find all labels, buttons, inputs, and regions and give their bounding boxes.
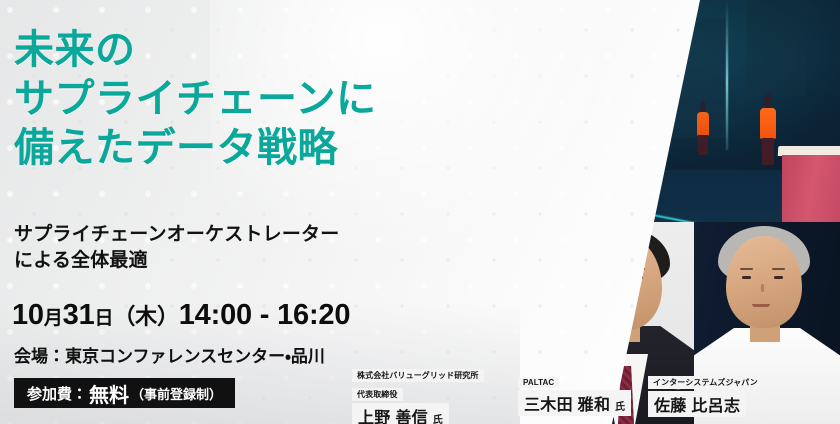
seminar-banner: 未来の サプライチェーンに 備えたデータ戦略 サプライチェーンオーケストレーター… xyxy=(0,0,840,424)
speaker-plate-3: インターシステムズジャパン 佐藤 比呂志 xyxy=(648,372,763,419)
speaker-name: 佐藤 比呂志 xyxy=(648,391,746,417)
speaker-plate-2: PALTAC 三木田 雅和 氏 xyxy=(518,372,631,418)
speaker-name-plates: 株式会社バリューグリッド研究所 代表取締役 上野 善信 氏 PALTAC 三木田… xyxy=(0,0,840,424)
speaker-role: 代表取締役 xyxy=(352,388,403,401)
speaker-name: 三木田 雅和 氏 xyxy=(518,390,631,416)
speaker-name-text: 上野 善信 xyxy=(358,410,428,424)
speaker-org: 株式会社バリューグリッド研究所 xyxy=(352,369,484,382)
speaker-name: 上野 善信 氏 xyxy=(352,403,449,424)
speaker-org: インターシステムズジャパン xyxy=(648,376,763,389)
speaker-org: PALTAC xyxy=(518,377,559,388)
speaker-plate-1: 株式会社バリューグリッド研究所 代表取締役 上野 善信 氏 xyxy=(352,365,484,424)
speaker-name-text: 佐藤 比呂志 xyxy=(654,398,740,415)
speaker-name-suffix: 氏 xyxy=(615,402,625,413)
speaker-name-suffix: 氏 xyxy=(433,415,443,424)
speaker-name-text: 三木田 雅和 xyxy=(524,397,610,414)
